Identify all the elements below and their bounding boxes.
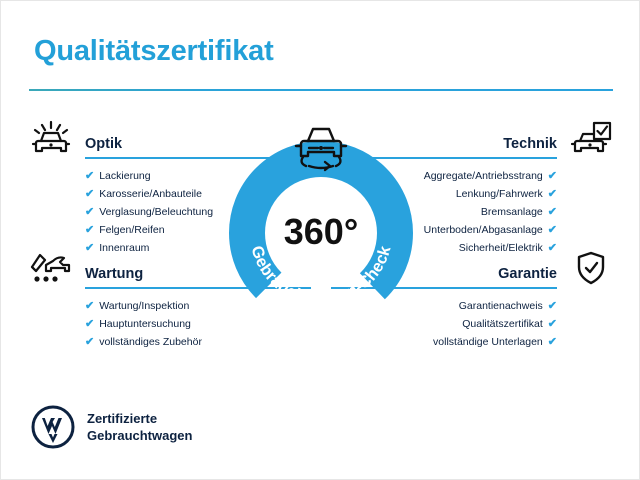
brand-text: Zertifizierte Gebrauchtwagen bbox=[87, 410, 192, 445]
vw-logo bbox=[31, 405, 75, 449]
check-icon: ✔ bbox=[85, 171, 94, 182]
list-item-label: Lenkung/Fahrwerk bbox=[456, 189, 543, 200]
check-icon: ✔ bbox=[548, 171, 557, 182]
list-item-label: Karosserie/Anbauteile bbox=[99, 189, 202, 200]
list-item-label: Qualitätszertifikat bbox=[462, 319, 543, 330]
car-checkbox-icon bbox=[569, 119, 613, 159]
section-technik-title: Technik bbox=[503, 136, 557, 152]
check-icon: ✔ bbox=[85, 189, 94, 200]
check-icon: ✔ bbox=[548, 319, 557, 330]
list-item-label: Wartung/Inspektion bbox=[99, 301, 189, 312]
check-icon: ✔ bbox=[548, 301, 557, 312]
wrench-car-icon bbox=[29, 249, 73, 289]
list-item-label: vollständiges Zubehör bbox=[99, 337, 202, 348]
shield-check-icon bbox=[569, 249, 613, 289]
car-headlights-icon bbox=[29, 119, 73, 159]
check-icon: ✔ bbox=[85, 207, 94, 218]
list-item: vollständige Unterlagen ✔ bbox=[331, 333, 613, 351]
list-item-label: Hauptuntersuchung bbox=[99, 319, 191, 330]
check-icon: ✔ bbox=[85, 337, 94, 348]
check-icon: ✔ bbox=[548, 189, 557, 200]
section-optik-title: Optik bbox=[85, 136, 122, 152]
title-divider bbox=[29, 89, 613, 91]
footer-brand: Zertifizierte Gebrauchtwagen bbox=[31, 405, 192, 449]
check-icon: ✔ bbox=[85, 225, 94, 236]
list-item-label: Unterboden/Abgasanlage bbox=[424, 225, 543, 236]
car-rotate-icon bbox=[285, 119, 357, 175]
section-garantie-title: Garantie bbox=[498, 266, 557, 282]
list-item-label: Bremsanlage bbox=[481, 207, 543, 218]
badge-ring-text: Gebrauchtwagen-Check bbox=[247, 243, 394, 308]
badge-center-text: 360° bbox=[284, 211, 358, 252]
section-wartung-title: Wartung bbox=[85, 266, 143, 282]
page-title: Qualitätszertifikat bbox=[34, 35, 274, 68]
check-icon: ✔ bbox=[548, 243, 557, 254]
check-icon: ✔ bbox=[85, 319, 94, 330]
list-item-label: Garantienachweis bbox=[459, 301, 543, 312]
check-icon: ✔ bbox=[85, 243, 94, 254]
list-item-label: Verglasung/Beleuchtung bbox=[99, 207, 213, 218]
brand-line-2: Gebrauchtwagen bbox=[87, 427, 192, 444]
list-item-label: Sicherheit/Elektrik bbox=[459, 243, 543, 254]
certificate-page: Qualitätszertifikat bbox=[0, 0, 640, 480]
list-item-label: Innenraum bbox=[99, 243, 149, 254]
brand-line-1: Zertifizierte bbox=[87, 410, 192, 427]
list-item-label: vollständige Unterlagen bbox=[433, 337, 543, 348]
list-item-label: Aggregate/Antriebsstrang bbox=[424, 171, 543, 182]
check-icon: ✔ bbox=[548, 225, 557, 236]
list-item: ✔ vollständiges Zubehör bbox=[29, 333, 311, 351]
svg-text:Gebrauchtwagen-Check: Gebrauchtwagen-Check bbox=[247, 243, 394, 308]
check-icon: ✔ bbox=[548, 207, 557, 218]
check-icon: ✔ bbox=[548, 337, 557, 348]
list-item-label: Lackierung bbox=[99, 171, 150, 182]
list-item-label: Felgen/Reifen bbox=[99, 225, 164, 236]
check-icon: ✔ bbox=[85, 301, 94, 312]
